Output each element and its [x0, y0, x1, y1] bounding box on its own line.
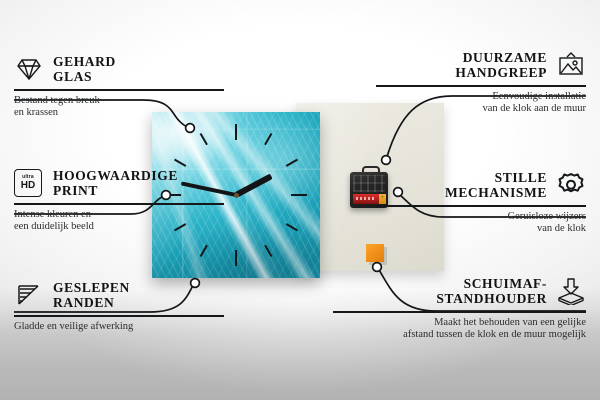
feature-title-line2: STANDHOUDER: [436, 291, 547, 306]
feature-title-line1: DUURZAME: [455, 50, 547, 65]
feature-header: STILLE MECHANISME: [376, 168, 586, 202]
feature-title-line1: STILLE: [445, 170, 547, 185]
feature-desc-line1: Geruisloze wijzers: [376, 211, 586, 224]
battery-label: [356, 197, 376, 200]
feature-title-line2: MECHANISME: [445, 185, 547, 200]
feature-desc-line1: Eenvoudige installatie: [376, 91, 586, 104]
diagonal-lines-icon: [14, 281, 44, 309]
feature-divider: [376, 205, 586, 207]
feature-divider: [14, 315, 224, 317]
feature-divider: [376, 85, 586, 87]
hd-icon-main-text: HD: [21, 181, 35, 191]
hour-hand: [235, 174, 273, 198]
clock-tick-1: [264, 133, 272, 145]
clock-tick-3: [291, 194, 307, 196]
feature-header: GESLEPEN RANDEN: [14, 278, 224, 312]
feature-header: DUURZAME HANDGREEP: [376, 48, 586, 82]
feature-desc-line1: Intense kleuren en: [14, 209, 224, 222]
feature-desc-line2: afstand tussen de klok en de muur mogeli…: [333, 329, 586, 342]
feature-stille-mechanisme: STILLE MECHANISME Geruisloze wijzers van…: [376, 168, 586, 236]
press-pad-icon: [556, 277, 586, 305]
feature-desc-line2: van de klok aan de muur: [376, 103, 586, 116]
feature-divider: [333, 311, 586, 313]
feature-title-line1: HOOGWAARDIGE: [53, 168, 178, 183]
feature-title-line1: GESLEPEN: [53, 280, 130, 295]
feature-desc-line2: en krassen: [14, 107, 224, 120]
clock-tick-2: [286, 159, 298, 167]
feature-schuimafstandhouder: SCHUIMAF- STANDHOUDER Maakt het behouden…: [333, 274, 586, 342]
feature-desc-line2: van de klok: [376, 223, 586, 236]
ultra-hd-icon: ultra HD: [14, 169, 44, 197]
feature-title-line2: RANDEN: [53, 295, 130, 310]
feature-desc-line1: Maakt het behouden van een gelijke: [333, 317, 586, 330]
feature-desc-line1: Bestand tegen breuk: [14, 95, 224, 108]
feature-divider: [14, 203, 224, 205]
clock-tick-12: [235, 124, 237, 140]
feature-desc-line2: een duidelijk beeld: [14, 221, 224, 234]
clock-tick-4: [286, 223, 298, 231]
feature-title-line2: HANDGREEP: [455, 65, 547, 80]
feature-desc-line1: Gladde en veilige afwerking: [14, 321, 224, 334]
feature-title-line2: PRINT: [53, 183, 178, 198]
feature-header: SCHUIMAF- STANDHOUDER: [333, 274, 586, 308]
clock-tick-7: [200, 245, 208, 257]
feature-gehard-glas: GEHARD GLAS Bestand tegen breuk en krass…: [14, 52, 224, 120]
diamond-icon: [14, 55, 44, 83]
hand-center-cap: [234, 193, 239, 198]
feature-hoogwaardige-print: ultra HD HOOGWAARDIGE PRINT Intense kleu…: [14, 166, 224, 234]
foam-spacer-part: [366, 244, 384, 262]
feature-geslepen-randen: GESLEPEN RANDEN Gladde en veilige afwerk…: [14, 278, 224, 333]
feature-title-line1: SCHUIMAF-: [436, 276, 547, 291]
clock-tick-11: [200, 133, 208, 145]
feature-header: GEHARD GLAS: [14, 52, 224, 86]
picture-frame-icon: [556, 51, 586, 79]
feature-duurzame-handgreep: DUURZAME HANDGREEP Eenvoudige installati…: [376, 48, 586, 116]
clock-tick-6: [235, 250, 237, 266]
feature-title-line2: GLAS: [53, 69, 116, 84]
infographic-canvas: +: [0, 0, 600, 400]
feature-divider: [14, 89, 224, 91]
feature-header: ultra HD HOOGWAARDIGE PRINT: [14, 166, 224, 200]
gear-icon: [556, 171, 586, 199]
clock-tick-5: [264, 245, 272, 257]
feature-title-line1: GEHARD: [53, 54, 116, 69]
